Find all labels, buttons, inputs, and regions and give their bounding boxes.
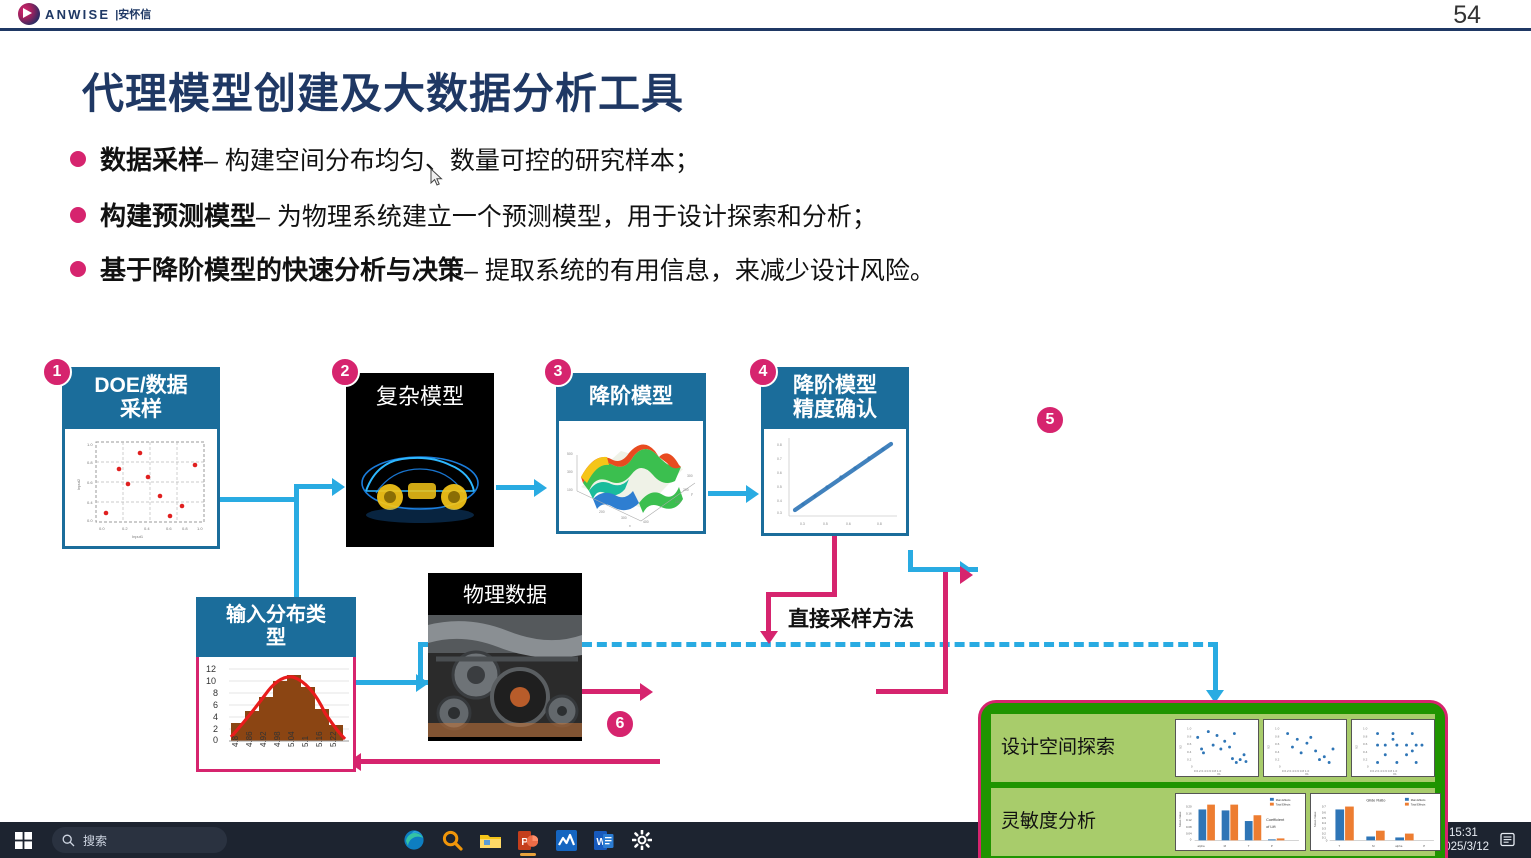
svg-text:0.2: 0.2 [122, 526, 128, 531]
arrow-head-to-rom [534, 479, 547, 497]
svg-text:0.2: 0.2 [1275, 758, 1280, 762]
svg-text:0.8: 0.8 [777, 443, 782, 447]
mouse-cursor-icon [430, 168, 444, 188]
svg-text:0.5: 0.5 [823, 522, 828, 526]
page-title: 代理模型创建及大数据分析工具 [82, 60, 684, 121]
svg-text:5.22: 5.22 [329, 731, 338, 747]
card-rom-accuracy-title-line1: 降阶模型 [793, 374, 877, 397]
svg-text:0.6: 0.6 [1363, 742, 1368, 746]
connector-doe-to-split [218, 497, 298, 502]
svg-text:0.6: 0.6 [777, 471, 782, 475]
results-row-sensitivity[interactable]: 灵敏度分析 0.200.160.12 0.080.040 alphaMTP [991, 788, 1435, 856]
svg-text:0.4: 0.4 [1363, 750, 1368, 754]
svg-text:Mean Value: Mean Value [1313, 811, 1317, 827]
svg-text:0.6: 0.6 [1322, 810, 1326, 814]
svg-text:x: x [629, 524, 631, 528]
anwise-logo-cn-text: |安怀信 [115, 6, 151, 22]
app-icon[interactable] [549, 824, 583, 856]
step-badge-2: 2 [330, 357, 360, 387]
svg-text:P: P [1423, 844, 1425, 848]
workflow-diagram: 直接采样方法 1 DOE/数据 采样 [0, 295, 1531, 825]
anwise-logo-mark-icon [18, 3, 40, 25]
svg-text:0.8: 0.8 [1275, 734, 1280, 738]
svg-text:500: 500 [567, 452, 573, 456]
bar-chart-coefficient-of-lift: 0.200.160.12 0.080.040 alphaMTP Mean Val… [1175, 793, 1306, 851]
results-row-design-space[interactable]: 设计空间探索 1.00.80.6 0.40.20 0 0.2 0.4 0.6 [991, 714, 1435, 782]
card-input-distribution-chart: 12108 6420 4.8 4.86 4.92 4.98 5.04 5.1 5… [196, 657, 356, 772]
svg-text:0.7: 0.7 [777, 457, 782, 461]
scatter-thumb-2: 1.00.80.6 0.40.20 0 0.2 0.4 0.6 0.8 1.0 … [1263, 719, 1347, 777]
card-doe-sampling[interactable]: DOE/数据 采样 0.00.20.4 [62, 367, 220, 549]
connector-calibration-up [943, 572, 948, 694]
search-icon [62, 834, 75, 847]
powerpoint-icon[interactable]: P [511, 824, 545, 856]
arrow-head-physical-to-calibration [640, 683, 653, 701]
step-badge-5: 5 [1035, 405, 1065, 435]
card-physical-data-title: 物理数据 [428, 573, 582, 615]
scatter-thumb-1: 1.00.80.6 0.40.20 0 0.2 0.4 0.6 0.8 1.0 … [1175, 719, 1259, 777]
svg-text:0.8: 0.8 [1363, 734, 1368, 738]
step-badge-1: 1 [42, 357, 72, 387]
svg-text:X2: X2 [1266, 745, 1270, 749]
svg-text:1.0: 1.0 [1275, 727, 1280, 731]
bullet-item-3: 基于降阶模型的快速分析与决策 – 提取系统的有用信息，来减少设计风险。 [70, 250, 935, 287]
svg-text:200: 200 [599, 510, 605, 514]
complex-model-car-image [346, 417, 494, 545]
svg-text:4.98: 4.98 [273, 731, 282, 747]
card-rom-accuracy-chart: 0.80.70.6 0.50.40.3 0.30.50.60.8 [761, 429, 909, 536]
search-app-icon[interactable] [435, 824, 469, 856]
svg-text:Mean Value: Mean Value [1178, 811, 1182, 827]
arrow-head-to-calibration [760, 631, 778, 644]
svg-text:0: 0 [213, 735, 218, 745]
card-complex-model[interactable]: 复杂模型 [346, 373, 494, 547]
svg-text:X1: X1 [1217, 772, 1221, 776]
search-input[interactable]: 搜索 [52, 827, 227, 853]
card-complex-model-title: 复杂模型 [346, 373, 494, 417]
svg-text:0.4: 0.4 [87, 500, 93, 505]
svg-text:1.0: 1.0 [1363, 727, 1368, 731]
card-doe-sampling-title: DOE/数据 采样 [62, 367, 220, 429]
connector-magenta-down-to-calib [766, 592, 771, 634]
svg-text:T: T [1248, 844, 1250, 848]
card-doe-sampling-title-line2: 采样 [120, 398, 162, 421]
card-input-distribution-title: 输入分布类 型 [196, 597, 356, 657]
svg-text:X2: X2 [1178, 745, 1182, 749]
svg-text:0.2: 0.2 [1363, 758, 1368, 762]
connector-split-vertical [294, 484, 299, 602]
results-row-design-space-thumbs: 1.00.80.6 0.40.20 0 0.2 0.4 0.6 0.8 1.0 … [1175, 719, 1435, 777]
svg-text:P: P [1271, 844, 1273, 848]
svg-text:0.6: 0.6 [1187, 742, 1192, 746]
svg-text:Total Effects: Total Effects [1411, 803, 1426, 807]
card-rom-accuracy[interactable]: 降阶模型 精度确认 0.80.70.6 0.50.40.3 0 [761, 367, 909, 536]
svg-text:Input2: Input2 [76, 478, 81, 490]
windows-start-icon[interactable] [0, 822, 46, 858]
bullet-dot-icon [70, 261, 86, 277]
svg-text:4.8: 4.8 [231, 735, 240, 747]
accuracy-correlation-scatter: 0.80.70.6 0.50.40.3 0.30.50.60.8 [767, 432, 905, 531]
svg-text:X1: X1 [1393, 772, 1397, 776]
svg-text:Glide Ratio: Glide Ratio [1366, 799, 1385, 803]
connector-inverse-to-inputdist [360, 759, 660, 764]
connector-rom-to-accuracy [708, 491, 746, 496]
word-icon[interactable]: W [587, 824, 621, 856]
svg-text:0.6: 0.6 [87, 480, 93, 485]
svg-text:0.4: 0.4 [144, 526, 150, 531]
svg-text:300: 300 [621, 516, 627, 520]
svg-text:5.16: 5.16 [315, 731, 324, 747]
svg-text:300: 300 [687, 474, 693, 478]
svg-text:Input1: Input1 [132, 534, 144, 539]
arrow-head-to-accuracy [746, 485, 759, 503]
arrow-head-calibration-to-results [960, 566, 973, 584]
step-badge-4: 4 [748, 357, 778, 387]
svg-text:Coefficient: Coefficient [1266, 818, 1285, 822]
notification-icon[interactable] [1500, 832, 1517, 848]
results-row-design-space-label: 设计空间探索 [1001, 737, 1171, 758]
card-input-distribution-title-line1: 输入分布类 [226, 604, 326, 626]
file-explorer-icon[interactable] [473, 824, 507, 856]
card-input-distribution[interactable]: 输入分布类 型 [196, 597, 356, 772]
bullet-2-text: – 为物理系统建立一个预测模型，用于设计探索和分析； [256, 197, 877, 233]
bullet-3-text: – 提取系统的有用信息，来减少设计风险。 [464, 251, 935, 287]
svg-text:0: 0 [1191, 764, 1193, 768]
card-input-distribution-title-line2: 型 [266, 627, 286, 649]
connector-complex-to-rom [496, 485, 534, 490]
edge-icon[interactable] [397, 824, 431, 856]
svg-text:1.0: 1.0 [1187, 727, 1192, 731]
anwise-logo-text: ANWISE [45, 7, 110, 22]
svg-text:0.7: 0.7 [1322, 805, 1326, 809]
card-rom-title: 降阶模型 [556, 373, 706, 421]
card-doe-sampling-title-line1: DOE/数据 [94, 374, 187, 397]
svg-text:0.0: 0.0 [99, 526, 105, 531]
card-rom-accuracy-title-line2: 精度确认 [793, 398, 877, 421]
step-badge-6: 6 [605, 709, 635, 739]
svg-text:0.8: 0.8 [877, 522, 882, 526]
card-rom-surface: 500300100 300200100 200300400 xy [556, 421, 706, 534]
bullet-item-1: 数据采样 – 构建空间分布均匀、数量可控的研究样本； [70, 140, 700, 177]
connector-physical-to-calibration [582, 689, 644, 694]
svg-text:2: 2 [213, 724, 218, 734]
svg-text:200: 200 [683, 488, 689, 492]
svg-text:X1: X1 [1305, 772, 1309, 776]
svg-text:0.5: 0.5 [1322, 816, 1326, 820]
bullet-2-strong: 构建预测模型 [100, 196, 256, 233]
arrow-head-to-complex-model [332, 478, 345, 496]
svg-text:0.6: 0.6 [846, 522, 851, 526]
bullet-1-strong: 数据采样 [100, 140, 204, 177]
connector-split-to-complex [294, 484, 336, 489]
svg-text:0.4: 0.4 [1322, 821, 1326, 825]
anwise-logo: ANWISE |安怀信 [18, 3, 151, 25]
svg-text:0.8: 0.8 [1187, 734, 1192, 738]
svg-text:0.5: 0.5 [777, 485, 782, 489]
svg-text:0.08: 0.08 [1186, 825, 1192, 829]
svg-text:of Lift: of Lift [1266, 825, 1276, 829]
bullet-3-strong: 基于降阶模型的快速分析与决策 [100, 250, 464, 287]
svg-text:6: 6 [213, 700, 218, 710]
svg-text:0.6: 0.6 [1275, 742, 1280, 746]
bar-chart-glide-ratio: 0.70.60.5 0.40.30.2 0.10 TMalphaP Mean V… [1310, 793, 1441, 851]
svg-text:0.12: 0.12 [1186, 818, 1192, 822]
svg-text:0.3: 0.3 [800, 522, 805, 526]
svg-text:0.6: 0.6 [166, 526, 172, 531]
taskbar-app-icons: P W [397, 824, 659, 856]
svg-text:T: T [1338, 844, 1340, 848]
svg-text:alpha: alpha [1395, 844, 1402, 848]
card-reduced-order-model[interactable]: 降阶模型 500300100 [556, 373, 706, 534]
svg-text:0.16: 0.16 [1186, 811, 1192, 815]
svg-text:Main Effects: Main Effects [1276, 798, 1291, 802]
results-row-sensitivity-label: 灵敏度分析 [1001, 811, 1171, 832]
svg-text:100: 100 [567, 488, 573, 492]
response-surface-3d: 500300100 300200100 200300400 xy [563, 425, 701, 529]
svg-text:0: 0 [1367, 764, 1369, 768]
card-rom-accuracy-title: 降阶模型 精度确认 [761, 367, 909, 429]
svg-text:0.0: 0.0 [87, 518, 93, 523]
svg-text:4: 4 [213, 712, 218, 722]
bullet-dot-icon [70, 151, 86, 167]
svg-text:0.4: 0.4 [1187, 750, 1192, 754]
svg-text:12: 12 [206, 664, 216, 674]
svg-text:Main Effects: Main Effects [1411, 798, 1426, 802]
settings-gear-icon[interactable] [625, 824, 659, 856]
svg-text:1.0: 1.0 [197, 526, 203, 531]
physical-data-engine-image [428, 615, 582, 737]
svg-text:0.04: 0.04 [1186, 832, 1192, 836]
bullet-item-2: 构建预测模型 – 为物理系统建立一个预测模型，用于设计探索和分析； [70, 196, 877, 233]
scatter-thumb-3: 1.00.80.6 0.40.20 0 0.2 0.4 0.6 0.8 1.0 … [1351, 719, 1435, 777]
svg-text:0.20: 0.20 [1186, 805, 1192, 809]
card-doe-sampling-chart: 0.00.20.4 0.60.81.0 Input1 1.00.80.6 0.4… [62, 429, 220, 549]
svg-text:5.1: 5.1 [301, 735, 310, 747]
results-row-sensitivity-thumbs: 0.200.160.12 0.080.040 alphaMTP Mean Val… [1175, 793, 1441, 851]
svg-text:Total Effects: Total Effects [1276, 803, 1291, 807]
svg-text:100: 100 [675, 500, 681, 504]
svg-text:alpha: alpha [1198, 844, 1205, 848]
panel-results[interactable]: 设计空间探索 1.00.80.6 0.40.20 0 0.2 0.4 0.6 [978, 700, 1448, 858]
search-input-placeholder: 搜索 [83, 832, 107, 849]
svg-text:X2: X2 [1354, 745, 1358, 749]
svg-text:8: 8 [213, 688, 218, 698]
svg-text:400: 400 [643, 520, 649, 524]
doe-scatter-plot: 0.00.20.4 0.60.81.0 Input1 1.00.80.6 0.4… [70, 434, 216, 542]
svg-text:0.4: 0.4 [1275, 750, 1280, 754]
slide-header-bar: ANWISE |安怀信 54 [0, 0, 1531, 31]
bullet-1-text: – 构建空间分布均匀、数量可控的研究样本； [204, 141, 700, 177]
svg-text:1.0: 1.0 [87, 442, 93, 447]
step-badge-3: 3 [543, 357, 573, 387]
svg-text:10: 10 [206, 676, 216, 686]
svg-text:0.3: 0.3 [777, 511, 782, 515]
svg-text:4.92: 4.92 [259, 731, 268, 747]
input-distribution-histogram: 12108 6420 4.8 4.86 4.92 4.98 5.04 5.1 5… [199, 657, 353, 769]
page-number: 54 [1453, 1, 1481, 30]
svg-text:0.8: 0.8 [87, 460, 93, 465]
svg-text:300: 300 [567, 470, 573, 474]
svg-text:0.8: 0.8 [182, 526, 188, 531]
dashed-connector-right-stub [1213, 642, 1218, 690]
connector-calibration-right [876, 689, 948, 694]
svg-text:0.4: 0.4 [777, 499, 782, 503]
svg-text:y: y [691, 492, 693, 496]
svg-text:0: 0 [1279, 764, 1281, 768]
direct-sampling-label: 直接采样方法 [788, 603, 914, 633]
svg-text:0.2: 0.2 [1187, 758, 1192, 762]
bullet-dot-icon [70, 207, 86, 223]
svg-text:0.3: 0.3 [1322, 827, 1326, 831]
card-physical-data[interactable]: 物理数据 [428, 573, 582, 741]
svg-text:5.04: 5.04 [287, 731, 296, 747]
svg-text:4.86: 4.86 [245, 731, 254, 747]
connector-magenta-left [766, 592, 837, 597]
